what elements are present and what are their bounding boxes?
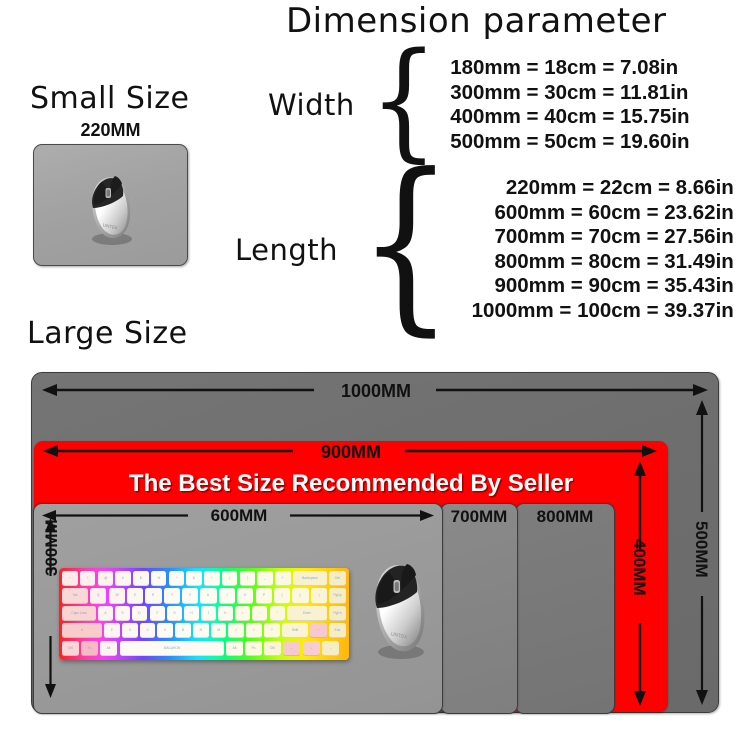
label-500mm: 500MM — [691, 521, 711, 578]
key[interactable]: C — [140, 623, 156, 638]
width-label: Width — [268, 89, 355, 121]
mouse-icon: UNTEK — [365, 554, 433, 662]
length-row: 700mm = 70cm = 27.56in — [472, 225, 734, 250]
key-alt-left[interactable]: Alt — [100, 641, 117, 656]
key[interactable]: _ — [257, 571, 273, 586]
width-dimension-block: Width { 180mm = 18cm = 7.08in 300mm = 30… — [268, 56, 690, 154]
key[interactable]: ? — [264, 623, 280, 638]
label-800mm: 800MM — [516, 507, 614, 527]
key[interactable]: + — [275, 571, 291, 586]
key[interactable]: ) — [240, 571, 256, 586]
width-row: 180mm = 18cm = 7.08in — [450, 56, 689, 81]
key[interactable]: S — [115, 606, 130, 621]
key[interactable]: L — [235, 606, 250, 621]
keyboard-row: Ctrl Fn Alt MACARON Alt Fn Ctrl ← ↓ → — [62, 641, 346, 656]
key[interactable]: : — [252, 606, 267, 621]
key[interactable]: < — [228, 623, 244, 638]
key[interactable]: " — [270, 606, 285, 621]
large-mouse-pad: 1000MM 500MM 900MM The — [31, 372, 719, 713]
key-fn-right[interactable]: Fn — [245, 641, 262, 656]
key-tab[interactable]: Tab — [62, 588, 88, 603]
key[interactable]: D — [132, 606, 147, 621]
small-size-heading: Small Size — [30, 81, 189, 116]
key-ctrl-left[interactable]: Ctrl — [62, 641, 79, 656]
key[interactable]: J — [201, 606, 216, 621]
key[interactable]: $ — [133, 571, 149, 586]
key[interactable]: % — [151, 571, 167, 586]
key[interactable]: P — [256, 588, 272, 603]
panel-600mm: 600MM 300MM ~ ! @ — [33, 503, 443, 714]
dimension-infographic: Dimension parameter Width { 180mm = 18cm… — [0, 0, 750, 750]
key[interactable]: Q — [90, 588, 106, 603]
key-pageup[interactable]: PgUp — [329, 588, 346, 603]
key[interactable]: | — [311, 588, 327, 603]
length-rows: 220mm = 22cm = 8.66in 600mm = 60cm = 23.… — [472, 176, 734, 324]
key[interactable]: W — [109, 588, 125, 603]
keyboard-brand-label: MACARON — [123, 641, 220, 655]
key[interactable]: H — [184, 606, 199, 621]
length-dimension-block: Length { 220mm = 22cm = 8.66in 600mm = 6… — [235, 176, 734, 324]
key[interactable]: F — [150, 606, 165, 621]
key-arrow-up[interactable]: ↑ — [310, 623, 327, 638]
key[interactable]: Y — [182, 588, 198, 603]
key-alt-right[interactable]: Alt — [226, 641, 243, 656]
key[interactable]: G — [167, 606, 182, 621]
keyboard[interactable]: ~ ! @ # $ % ^ & * ( ) _ + Backspace — [59, 568, 349, 660]
keyboard-row: ♥ Z X C V B N M < > ? Shift ↑ End — [62, 623, 346, 638]
key[interactable]: K — [218, 606, 233, 621]
page-title: Dimension parameter — [286, 1, 667, 41]
key[interactable]: X — [122, 623, 138, 638]
label-1000mm: 1000MM — [32, 381, 720, 402]
key-end[interactable]: End — [329, 623, 346, 638]
key[interactable]: V — [157, 623, 173, 638]
keyboard-row: Caps Lock A S D F G H J K L : " Enter Pg… — [62, 606, 346, 621]
width-rows: 180mm = 18cm = 7.08in 300mm = 30cm = 11.… — [450, 56, 689, 154]
key-shift-left[interactable]: ♥ — [62, 623, 102, 638]
label-300mm: 300MM — [42, 519, 62, 576]
width-row: 400mm = 40cm = 15.75in — [450, 105, 689, 130]
key-arrow-left[interactable]: ← — [283, 641, 300, 656]
large-size-heading: Large Size — [27, 316, 188, 351]
key[interactable]: O — [237, 588, 253, 603]
key-enter[interactable]: Enter — [287, 606, 327, 621]
key-pagedown[interactable]: PgDn — [329, 606, 346, 621]
panel-800mm: 800MM — [515, 503, 615, 714]
key[interactable]: T — [164, 588, 180, 603]
key-backspace[interactable]: Backspace — [293, 571, 327, 586]
key-fn-left[interactable]: Fn — [81, 641, 98, 656]
key[interactable]: N — [193, 623, 209, 638]
key[interactable]: * — [204, 571, 220, 586]
small-mouse-pad: UNTEK — [33, 144, 188, 266]
keyboard-keys: ~ ! @ # $ % ^ & * ( ) _ + Backspace — [62, 571, 346, 657]
key[interactable]: R — [145, 588, 161, 603]
key[interactable]: } — [292, 588, 308, 603]
width-row: 500mm = 50cm = 19.60in — [450, 130, 689, 155]
recommended-banner-text: The Best Size Recommended By Seller — [34, 470, 668, 498]
length-row: 600mm = 60cm = 23.62in — [472, 201, 734, 226]
key[interactable]: @ — [98, 571, 114, 586]
key[interactable]: # — [115, 571, 131, 586]
length-label: Length — [235, 234, 338, 266]
keyboard-row: ~ ! @ # $ % ^ & * ( ) _ + Backspace — [62, 571, 346, 586]
key[interactable]: ~ — [62, 571, 78, 586]
width-row: 300mm = 30cm = 11.81in — [450, 81, 689, 106]
key-arrow-right[interactable]: → — [322, 641, 339, 656]
length-row: 800mm = 80cm = 31.49in — [472, 250, 734, 275]
key-ctrl-right[interactable]: Ctrl — [264, 641, 281, 656]
key-spacebar[interactable]: MACARON — [120, 641, 224, 656]
key[interactable]: & — [186, 571, 202, 586]
key[interactable]: A — [98, 606, 113, 621]
key[interactable]: B — [175, 623, 191, 638]
key[interactable]: ^ — [169, 571, 185, 586]
key-capslock[interactable]: Caps Lock — [62, 606, 96, 621]
length-row: 1000mm = 100cm = 39.37in — [472, 299, 734, 324]
length-brace: { — [358, 176, 454, 311]
key-delete[interactable]: Del — [329, 571, 346, 586]
small-pad-width-label: 220MM — [33, 120, 188, 141]
label-600mm: 600MM — [34, 506, 444, 526]
label-900mm: 900MM — [34, 442, 668, 463]
label-700mm: 700MM — [441, 507, 517, 527]
key[interactable]: > — [246, 623, 262, 638]
key[interactable]: I — [219, 588, 235, 603]
key[interactable]: ! — [80, 571, 96, 586]
panel-700mm: 700MM — [440, 503, 518, 714]
key-shift-right[interactable]: Shift — [282, 623, 308, 638]
key[interactable]: { — [274, 588, 290, 603]
length-row: 220mm = 22cm = 8.66in — [472, 176, 734, 201]
mouse-icon: UNTEK — [79, 168, 141, 246]
label-400mm: 400MM — [629, 539, 649, 596]
key[interactable]: Z — [104, 623, 120, 638]
length-row: 900mm = 90cm = 35.43in — [472, 274, 734, 299]
key[interactable]: U — [200, 588, 216, 603]
key[interactable]: E — [127, 588, 143, 603]
key[interactable]: M — [211, 623, 227, 638]
key[interactable]: ( — [222, 571, 238, 586]
key-arrow-down[interactable]: ↓ — [303, 641, 320, 656]
keyboard-row: Tab Q W E R T Y U I O P { } | Pg — [62, 588, 346, 603]
